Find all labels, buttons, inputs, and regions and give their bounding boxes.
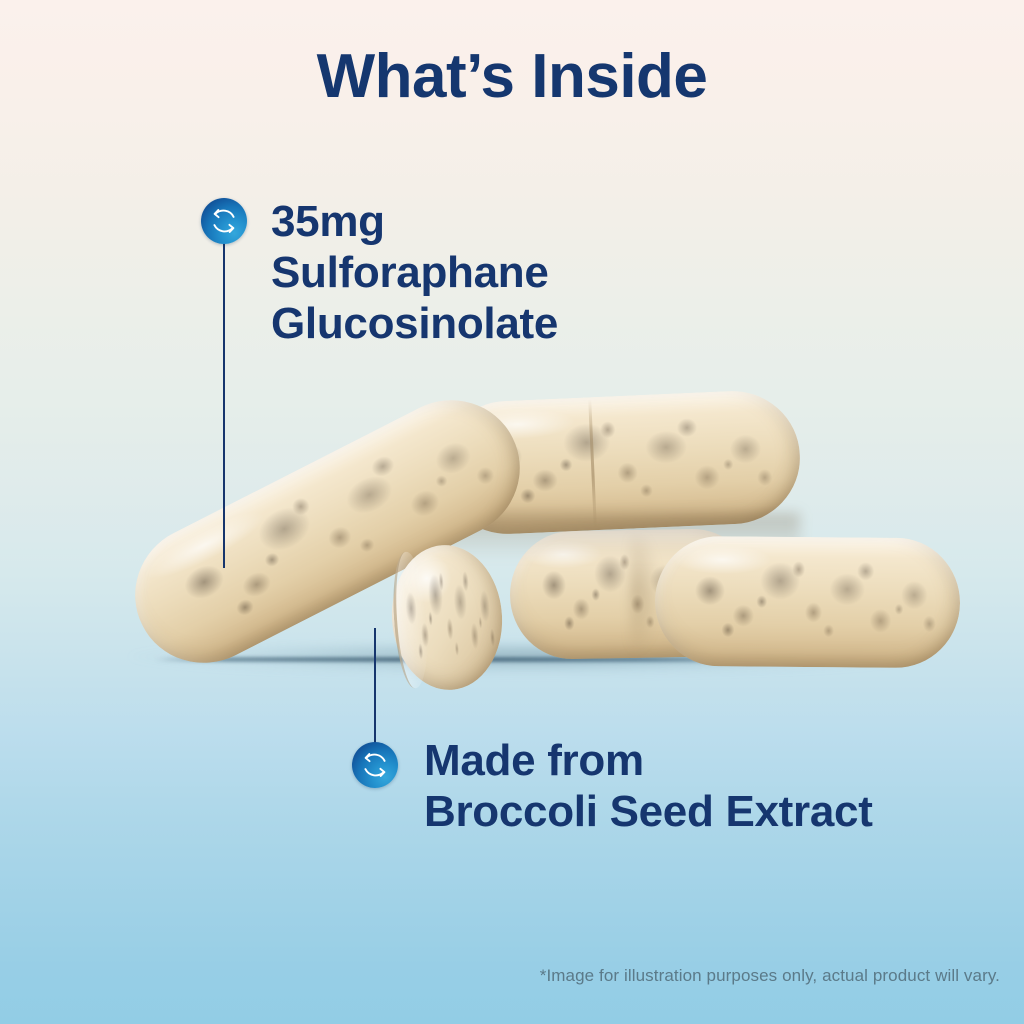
callout-2-line-2: Broccoli Seed Extract <box>424 786 873 837</box>
callout-1-line-3: Glucosinolate <box>271 298 558 349</box>
capsule-front-right <box>654 536 960 669</box>
callout-2-line-1: Made from <box>424 735 873 786</box>
callout-text-2: Made from Broccoli Seed Extract <box>424 735 873 837</box>
callout-leader-line-2 <box>374 628 376 746</box>
capsule-speckle-texture <box>654 536 960 669</box>
callout-text-1: 35mg Sulforaphane Glucosinolate <box>271 196 558 349</box>
cycle-arrows-icon <box>201 198 247 244</box>
callout-leader-line-1 <box>223 236 225 568</box>
product-infographic: What’s Inside <box>0 0 1024 1024</box>
product-image <box>110 385 930 695</box>
page-title: What’s Inside <box>0 46 1024 108</box>
cycle-arrows-icon <box>352 742 398 788</box>
callout-1-line-2: Sulforaphane <box>271 247 558 298</box>
disclaimer-footnote: *Image for illustration purposes only, a… <box>540 966 1000 986</box>
callout-1-line-1: 35mg <box>271 196 558 247</box>
